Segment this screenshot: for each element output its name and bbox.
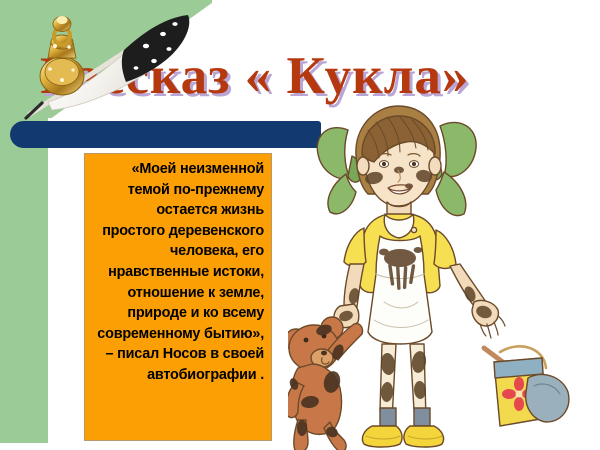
green-bow-left [317, 128, 360, 214]
bucket-and-shovel [484, 346, 569, 426]
teddy-bear [288, 317, 363, 450]
quote-text: «Моей неизменной темой по-прежнему остае… [85, 154, 271, 386]
girl-with-teddy-bear-illustration [288, 96, 600, 450]
gold-seal-icon [40, 16, 84, 95]
navy-accent-bar [10, 121, 321, 148]
yellow-shoes [362, 426, 443, 447]
slide-canvas: Рассказ « Кукла» «Моей неизменной темой … [0, 0, 600, 450]
quote-box: «Моей неизменной темой по-прежнему остае… [84, 153, 272, 441]
feather-quill-icon [18, 2, 218, 120]
